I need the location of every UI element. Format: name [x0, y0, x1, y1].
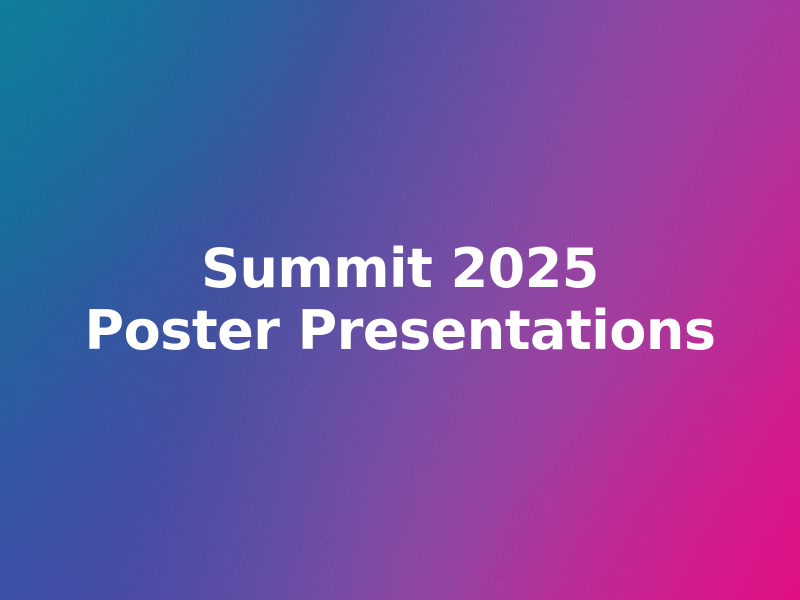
- headline-line-1: Summit 2025: [85, 238, 716, 300]
- banner-headline: Summit 2025 Poster Presentations: [61, 238, 740, 362]
- banner-content: Summit 2025 Poster Presentations: [0, 0, 800, 600]
- promo-banner: Summit 2025 Poster Presentations: [0, 0, 800, 600]
- headline-line-2: Poster Presentations: [85, 300, 716, 362]
